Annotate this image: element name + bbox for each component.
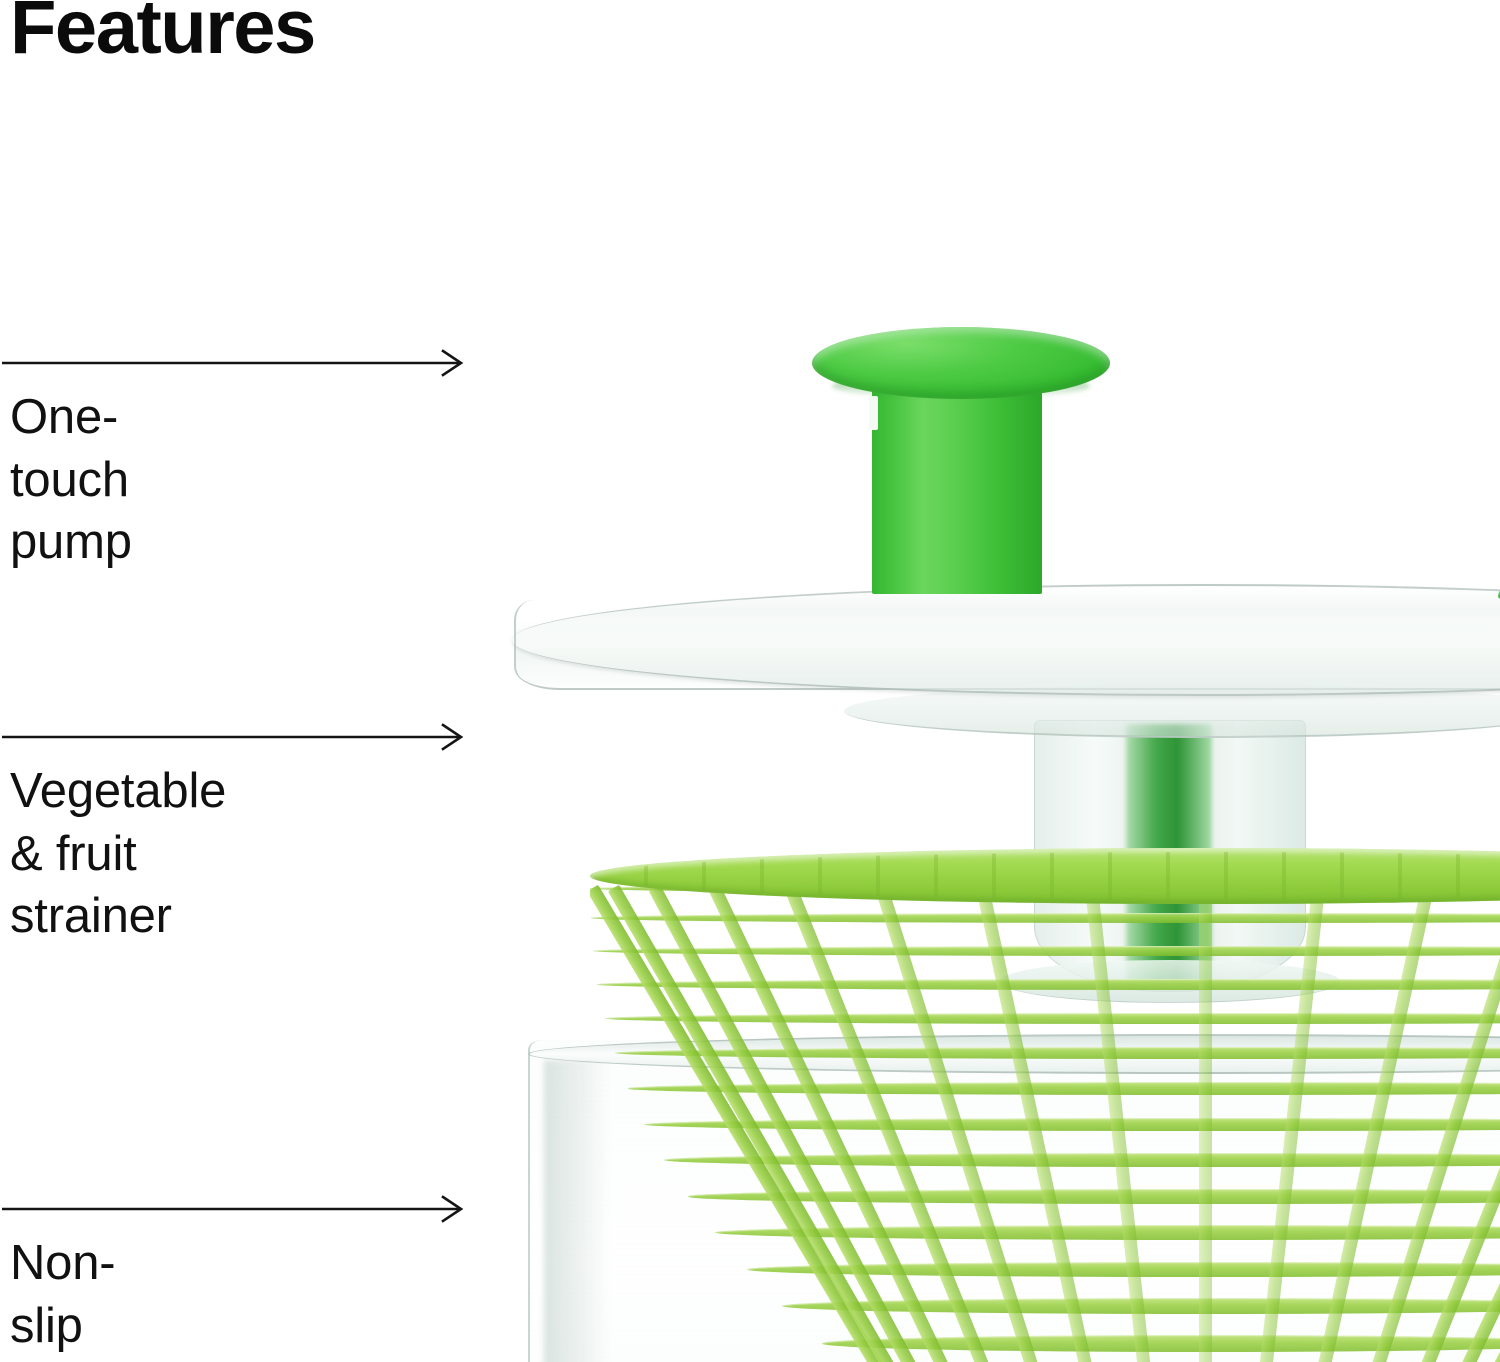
callout-label-non-slip-base: Non-slip base [10,1232,115,1362]
strainer-lattice [590,874,1500,1362]
strainer-rim-ticks [590,852,1500,900]
pump-column [872,378,1042,594]
right-arrow-icon [0,348,470,378]
strainer-ring [597,979,1500,990]
pump-knob[interactable] [812,327,1110,399]
lid-edge-left [514,600,558,682]
right-arrow-icon [0,1194,470,1224]
right-arrow-icon [0,722,470,752]
strainer-ring [605,1013,1500,1024]
page-title: Features [10,0,315,68]
strainer-rib [1199,888,1212,1362]
product-image-salad-spinner [440,300,1500,1362]
strainer-basket [590,848,1500,1362]
features-infographic: Features One-touch pump Vegetable & frui… [0,0,1500,1362]
pump-column-notch [869,396,878,430]
callout-label-vegetable-fruit-strainer: Vegetable & fruit strainer [10,760,226,948]
callout-label-one-touch-pump: One-touch pump [10,386,132,574]
strainer-ring [593,946,1500,956]
